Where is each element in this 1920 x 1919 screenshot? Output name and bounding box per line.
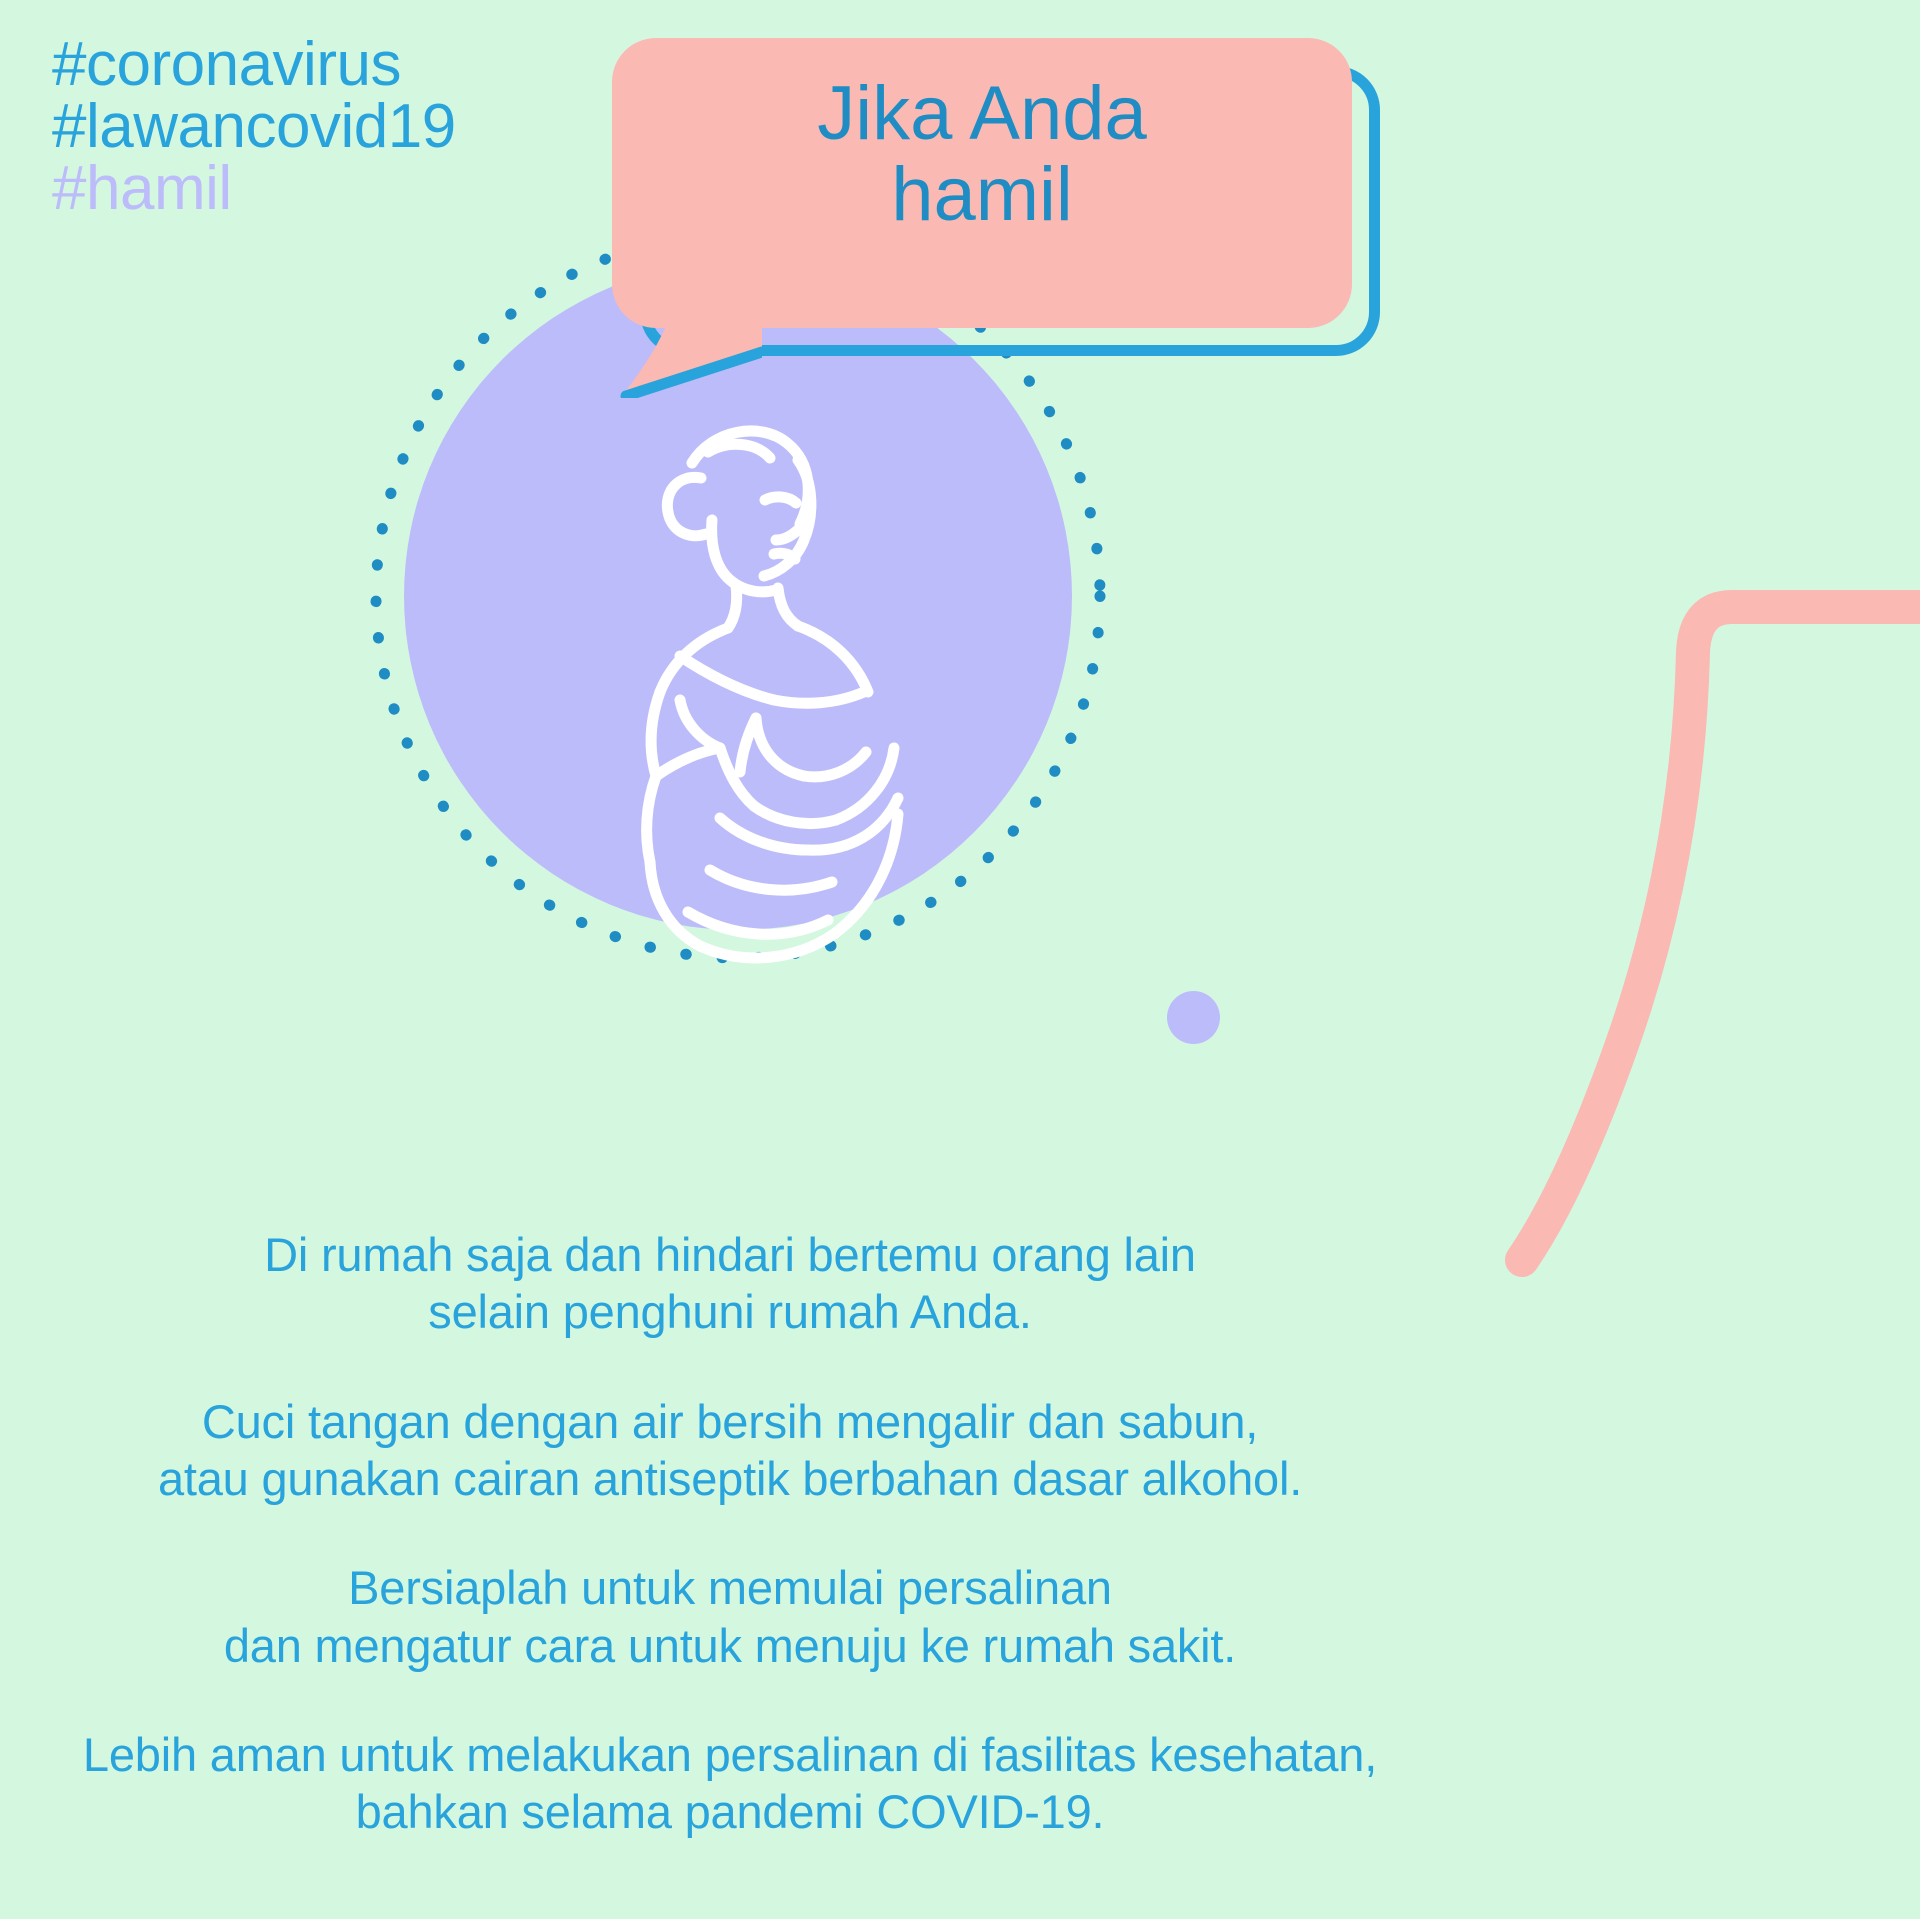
advice-item-1: Di rumah saja dan hindari bertemu orang … [0, 1226, 1460, 1341]
advice-item-4-line-2: bahkan selama pandemi COVID-19. [0, 1783, 1460, 1840]
page-title-line-1: Jika Anda [612, 74, 1352, 155]
hashtag-lawancovid19: #lawancovid19 [52, 96, 456, 158]
advice-item-1-line-1: Di rumah saja dan hindari bertemu orang … [0, 1226, 1460, 1283]
page-title-line-2: hamil [612, 155, 1352, 236]
advice-item-4-line-1: Lebih aman untuk melakukan persalinan di… [0, 1726, 1460, 1783]
advice-item-3: Bersiaplah untuk memulai persalinan dan … [0, 1559, 1460, 1674]
pink-hook-decoration [1150, 560, 1920, 1300]
hashtag-group: #coronavirus #lawancovid19 #hamil [52, 34, 456, 220]
advice-item-4: Lebih aman untuk melakukan persalinan di… [0, 1726, 1460, 1841]
advice-item-2-line-2: atau gunakan cairan antiseptik berbahan … [0, 1450, 1460, 1507]
advice-item-2: Cuci tangan dengan air bersih mengalir d… [0, 1393, 1460, 1508]
advice-item-2-line-1: Cuci tangan dengan air bersih mengalir d… [0, 1393, 1460, 1450]
page-title: Jika Anda hamil [612, 74, 1352, 235]
advice-list: Di rumah saja dan hindari bertemu orang … [0, 1226, 1460, 1893]
hashtag-hamil: #hamil [52, 158, 456, 220]
speech-bubble: Jika Anda hamil [612, 38, 1392, 398]
purple-dot-decoration [1167, 991, 1220, 1044]
infographic-canvas: #coronavirus #lawancovid19 #hamil [0, 0, 1920, 1919]
advice-item-3-line-1: Bersiaplah untuk memulai persalinan [0, 1559, 1460, 1616]
advice-item-3-line-2: dan mengatur cara untuk menuju ke rumah … [0, 1617, 1460, 1674]
hashtag-coronavirus: #coronavirus [52, 34, 456, 96]
advice-item-1-line-2: selain penghuni rumah Anda. [0, 1283, 1460, 1340]
